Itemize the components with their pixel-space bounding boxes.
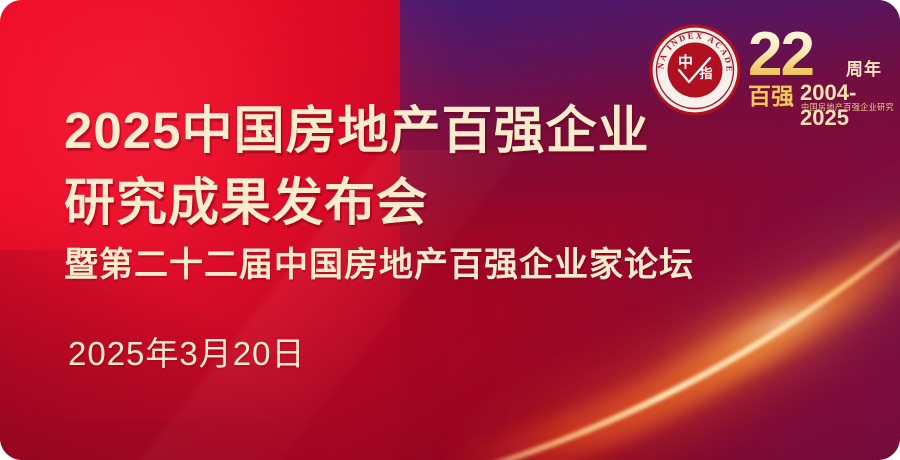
anniversary-badge: 22 周年 百强 2004-2025 中国房地产百强企业研究	[748, 26, 894, 116]
page-title-line-2: 研究成果发布会	[64, 172, 428, 234]
page-title-line-1: 2025中国房地产百强企业	[64, 100, 649, 162]
anniversary-caption: 中国房地产百强企业研究	[801, 102, 894, 113]
event-date: 2025年3月20日	[68, 332, 305, 376]
anniversary-number: 22	[748, 24, 813, 86]
svg-text:中: 中	[678, 53, 693, 71]
subtitle: 暨第二十二届中国房地产百强企业家论坛	[64, 243, 694, 287]
anniversary-suffix: 周年	[846, 60, 882, 80]
top100-badge: 百强	[748, 83, 794, 109]
china-index-academy-seal-logo: CHINA INDEX ACADEMY 研究院 中 指	[649, 24, 741, 116]
event-banner: 2025中国房地产百强企业 研究成果发布会 暨第二十二届中国房地产百强企业家论坛…	[0, 0, 900, 460]
